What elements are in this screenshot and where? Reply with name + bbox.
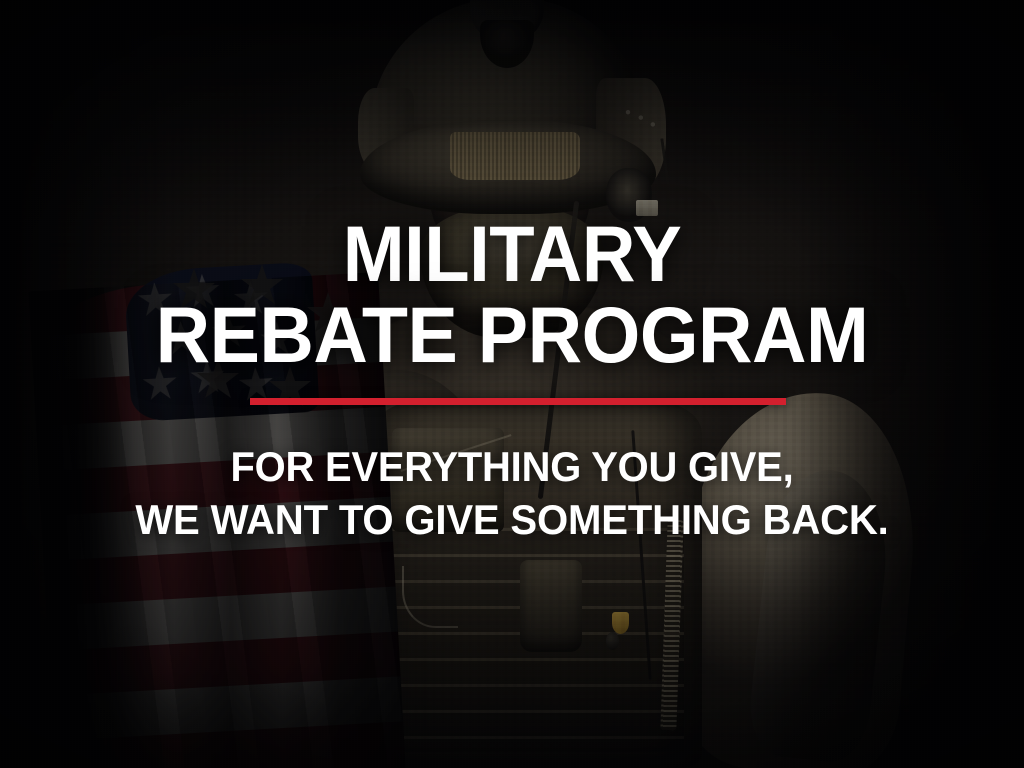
accent-divider-rule — [250, 398, 786, 405]
subheadline-line-1: FOR EVERYTHING YOU GIVE, — [26, 445, 999, 490]
subheadline-line-2: WE WANT TO GIVE SOMETHING BACK. — [23, 498, 1001, 543]
headline-line-1: MILITARY — [31, 216, 994, 292]
headline-line-2: REBATE PROGRAM — [23, 297, 1001, 373]
text-overlay: MILITARY REBATE PROGRAM FOR EVERYTHING Y… — [0, 0, 1024, 768]
slide-canvas: MILITARY REBATE PROGRAM FOR EVERYTHING Y… — [0, 0, 1024, 768]
